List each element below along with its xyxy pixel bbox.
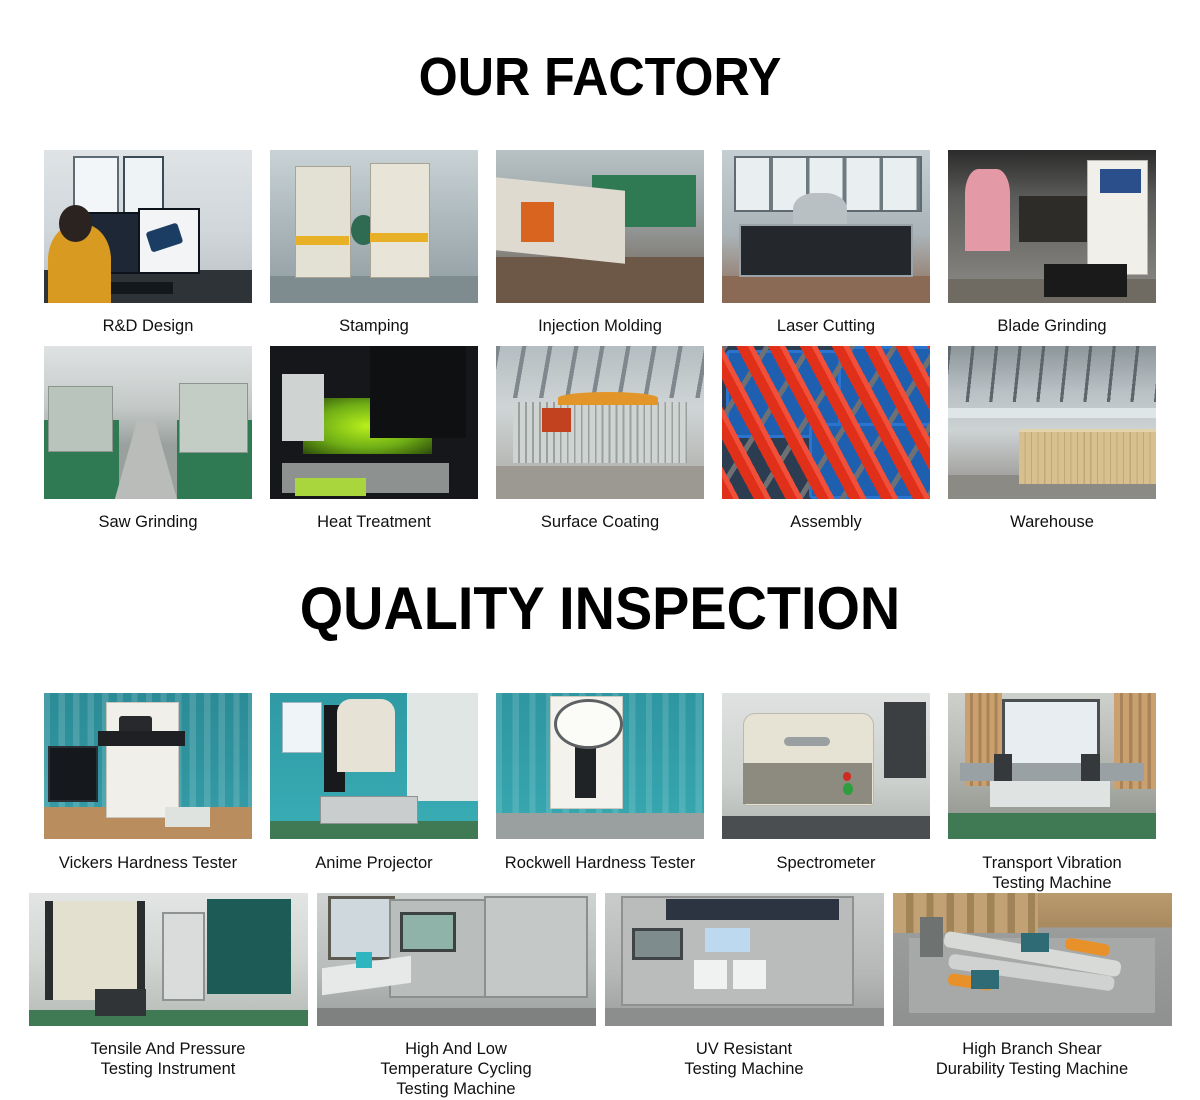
factory-item-caption: Injection Molding — [538, 316, 662, 336]
saw-grinding-photo[interactable] — [44, 346, 252, 499]
inspection-item-rockwell-hardness-tester[interactable]: Rockwell Hardness Tester — [496, 693, 704, 873]
inspection-item-caption: High And Low Temperature Cycling Testing… — [380, 1039, 531, 1099]
heat-treatment-photo[interactable] — [270, 346, 478, 499]
rd-design-photo[interactable] — [44, 150, 252, 303]
inspection-item-caption: Spectrometer — [776, 853, 875, 873]
factory-item-caption: Surface Coating — [541, 512, 659, 532]
factory-item-caption: Assembly — [790, 512, 862, 532]
uv-resistant-testing-machine-photo[interactable] — [605, 893, 884, 1026]
factory-item-saw-grinding[interactable]: Saw Grinding — [44, 346, 252, 532]
page-title-our-factory: OUR FACTORY — [42, 36, 1158, 114]
factory-item-caption: Laser Cutting — [777, 316, 875, 336]
inspection-item-caption: Tensile And Pressure Testing Instrument — [90, 1039, 245, 1079]
inspection-item-spectrometer[interactable]: Spectrometer — [722, 693, 930, 873]
factory-row-2: Saw Grinding Heat Treatment Surface Coat… — [0, 346, 1200, 532]
inspection-item-high-and-low-temperature-cycling-testing-machine[interactable]: High And Low Temperature Cycling Testing… — [317, 893, 596, 1099]
factory-item-rd-design[interactable]: R&D Design — [44, 150, 252, 336]
factory-item-caption: Warehouse — [1010, 512, 1094, 532]
inspection-item-caption: High Branch Shear Durability Testing Mac… — [936, 1039, 1128, 1079]
factory-item-caption: Stamping — [339, 316, 409, 336]
inspection-row-2: Tensile And Pressure Testing Instrument … — [0, 893, 1200, 1099]
tensile-and-pressure-testing-instrument-photo[interactable] — [29, 893, 308, 1026]
factory-item-surface-coating[interactable]: Surface Coating — [496, 346, 704, 532]
factory-item-caption: R&D Design — [103, 316, 194, 336]
transport-vibration-testing-machine-photo[interactable] — [948, 693, 1156, 839]
factory-item-injection-molding[interactable]: Injection Molding — [496, 150, 704, 336]
factory-item-caption: Saw Grinding — [98, 512, 197, 532]
factory-item-heat-treatment[interactable]: Heat Treatment — [270, 346, 478, 532]
factory-item-warehouse[interactable]: Warehouse — [948, 346, 1156, 532]
anime-projector-photo[interactable] — [270, 693, 478, 839]
spectrometer-photo[interactable] — [722, 693, 930, 839]
inspection-item-caption: Rockwell Hardness Tester — [505, 853, 695, 873]
high-branch-shear-durability-testing-machine-photo[interactable] — [893, 893, 1172, 1026]
inspection-row-1: Vickers Hardness Tester Anime Projector … — [0, 693, 1200, 893]
warehouse-photo[interactable] — [948, 346, 1156, 499]
inspection-item-vickers-hardness-tester[interactable]: Vickers Hardness Tester — [44, 693, 252, 873]
inspection-item-caption: Vickers Hardness Tester — [59, 853, 237, 873]
factory-item-assembly[interactable]: Assembly — [722, 346, 930, 532]
factory-item-blade-grinding[interactable]: Blade Grinding — [948, 150, 1156, 336]
factory-row-1: R&D Design Stamping Injection Molding La… — [0, 150, 1200, 336]
page-title-quality-inspection: QUALITY INSPECTION — [42, 573, 1158, 653]
inspection-item-tensile-and-pressure-testing-instrument[interactable]: Tensile And Pressure Testing Instrument — [29, 893, 308, 1079]
inspection-item-high-branch-shear-durability-testing-machine[interactable]: High Branch Shear Durability Testing Mac… — [893, 893, 1172, 1079]
inspection-item-caption: Anime Projector — [315, 853, 432, 873]
rockwell-hardness-tester-photo[interactable] — [496, 693, 704, 839]
inspection-item-caption: UV Resistant Testing Machine — [684, 1039, 803, 1079]
high-and-low-temperature-cycling-testing-machine-photo[interactable] — [317, 893, 596, 1026]
injection-molding-photo[interactable] — [496, 150, 704, 303]
factory-item-caption: Blade Grinding — [997, 316, 1106, 336]
laser-cutting-photo[interactable] — [722, 150, 930, 303]
inspection-item-anime-projector[interactable]: Anime Projector — [270, 693, 478, 873]
factory-item-stamping[interactable]: Stamping — [270, 150, 478, 336]
factory-item-caption: Heat Treatment — [317, 512, 431, 532]
inspection-item-transport-vibration-testing-machine[interactable]: Transport Vibration Testing Machine — [948, 693, 1156, 893]
factory-item-laser-cutting[interactable]: Laser Cutting — [722, 150, 930, 336]
assembly-photo[interactable] — [722, 346, 930, 499]
stamping-photo[interactable] — [270, 150, 478, 303]
inspection-item-uv-resistant-testing-machine[interactable]: UV Resistant Testing Machine — [605, 893, 884, 1079]
inspection-item-caption: Transport Vibration Testing Machine — [982, 853, 1121, 893]
vickers-hardness-tester-photo[interactable] — [44, 693, 252, 839]
blade-grinding-photo[interactable] — [948, 150, 1156, 303]
surface-coating-photo[interactable] — [496, 346, 704, 499]
